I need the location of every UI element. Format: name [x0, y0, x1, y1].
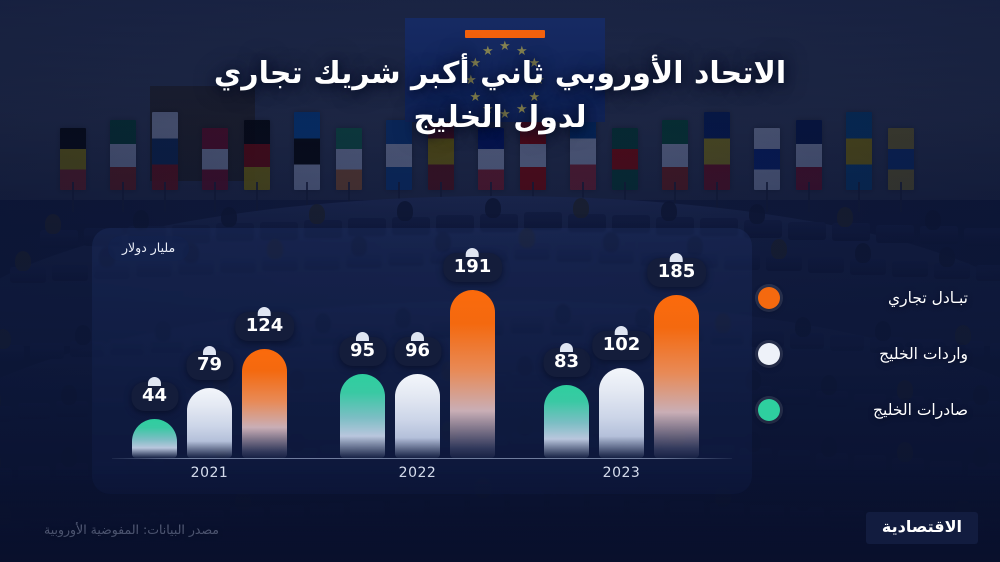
bar-value-text: 96	[405, 340, 430, 361]
legend-color-swatch-icon	[758, 287, 780, 309]
legend-color-swatch-icon	[758, 399, 780, 421]
bar-chart-plot: 4479124202195961912022831021852023	[92, 228, 752, 494]
pill-notch-icon	[615, 326, 628, 335]
legend-item-label: تبـادل تجاري	[792, 287, 968, 309]
bar-value-text: 102	[603, 334, 641, 355]
x-axis-line	[112, 458, 732, 459]
bar-value-label: 44	[131, 382, 178, 411]
legend-item-label: صادرات الخليج	[792, 399, 968, 421]
bar-value-text: 44	[142, 385, 167, 406]
bar-واردات-الخليج[interactable]	[599, 368, 644, 458]
bar-value-label: 83	[543, 348, 590, 377]
infographic-stage: ★★★★★★★★★★★★ الاتحاد الأوروبي ثاني أكبر …	[0, 0, 1000, 562]
bar-slot: 185	[654, 282, 699, 458]
bar-تبـادل-تجاري[interactable]	[242, 349, 287, 458]
bar-value-label: 102	[592, 331, 652, 360]
bar-slot: 95	[340, 282, 385, 458]
legend-item-trade[interactable]: تبـادل تجاري	[758, 282, 968, 314]
chart-legend: تبـادل تجاريواردات الخليجصادرات الخليج	[758, 282, 968, 450]
legend-color-swatch-icon	[758, 343, 780, 365]
pill-notch-icon	[148, 377, 161, 386]
bar-slot: 96	[395, 282, 440, 458]
bar-value-text: 185	[658, 261, 696, 282]
bar-تبـادل-تجاري[interactable]	[654, 295, 699, 458]
bar-slot: 83	[544, 282, 589, 458]
orange-accent-bar	[465, 30, 545, 38]
bar-واردات-الخليج[interactable]	[395, 374, 440, 458]
pill-notch-icon	[258, 307, 271, 316]
brand-logo-text: الاقتصادية	[882, 517, 962, 536]
bottom-fade	[0, 470, 1000, 562]
legend-item-label: واردات الخليج	[792, 343, 968, 365]
bar-واردات-الخليج[interactable]	[187, 388, 232, 458]
pill-notch-icon	[466, 248, 479, 257]
bar-صادرات-الخليج[interactable]	[132, 419, 177, 458]
chart-panel: مليار دولار 4479124202195961912022831021…	[92, 228, 752, 494]
bar-slot: 79	[187, 282, 232, 458]
headline-line-1: الاتحاد الأوروبي ثاني أكبر شريك تجاري	[214, 56, 786, 91]
bar-group-2022: 9596191	[340, 282, 495, 458]
pill-notch-icon	[203, 346, 216, 355]
brand-logo: الاقتصادية	[866, 512, 978, 544]
bar-slot: 124	[242, 282, 287, 458]
bar-value-label: 191	[443, 253, 503, 282]
bar-value-text: 79	[197, 354, 222, 375]
bar-slot: 44	[132, 282, 177, 458]
bar-صادرات-الخليج[interactable]	[340, 374, 385, 458]
legend-item-imports[interactable]: واردات الخليج	[758, 338, 968, 370]
pill-notch-icon	[670, 253, 683, 262]
bar-value-label: 96	[394, 337, 441, 366]
bar-value-label: 185	[647, 258, 707, 287]
bar-slot: 102	[599, 282, 644, 458]
bar-group-2021: 4479124	[132, 282, 287, 458]
bar-صادرات-الخليج[interactable]	[544, 385, 589, 458]
bar-value-label: 95	[339, 337, 386, 366]
headline-line-2: لدول الخليج	[80, 96, 920, 140]
bar-value-text: 191	[454, 256, 492, 277]
bar-group-2023: 83102185	[544, 282, 699, 458]
legend-item-exports[interactable]: صادرات الخليج	[758, 394, 968, 426]
bar-value-label: 79	[186, 351, 233, 380]
bar-value-label: 124	[235, 312, 295, 341]
bar-تبـادل-تجاري[interactable]	[450, 290, 495, 458]
pill-notch-icon	[356, 332, 369, 341]
pill-notch-icon	[411, 332, 424, 341]
bar-value-text: 95	[350, 340, 375, 361]
bar-slot: 191	[450, 282, 495, 458]
pill-notch-icon	[560, 343, 573, 352]
bar-value-text: 124	[246, 315, 284, 336]
page-title: الاتحاد الأوروبي ثاني أكبر شريك تجاري لد…	[0, 52, 1000, 140]
bar-value-text: 83	[554, 351, 579, 372]
